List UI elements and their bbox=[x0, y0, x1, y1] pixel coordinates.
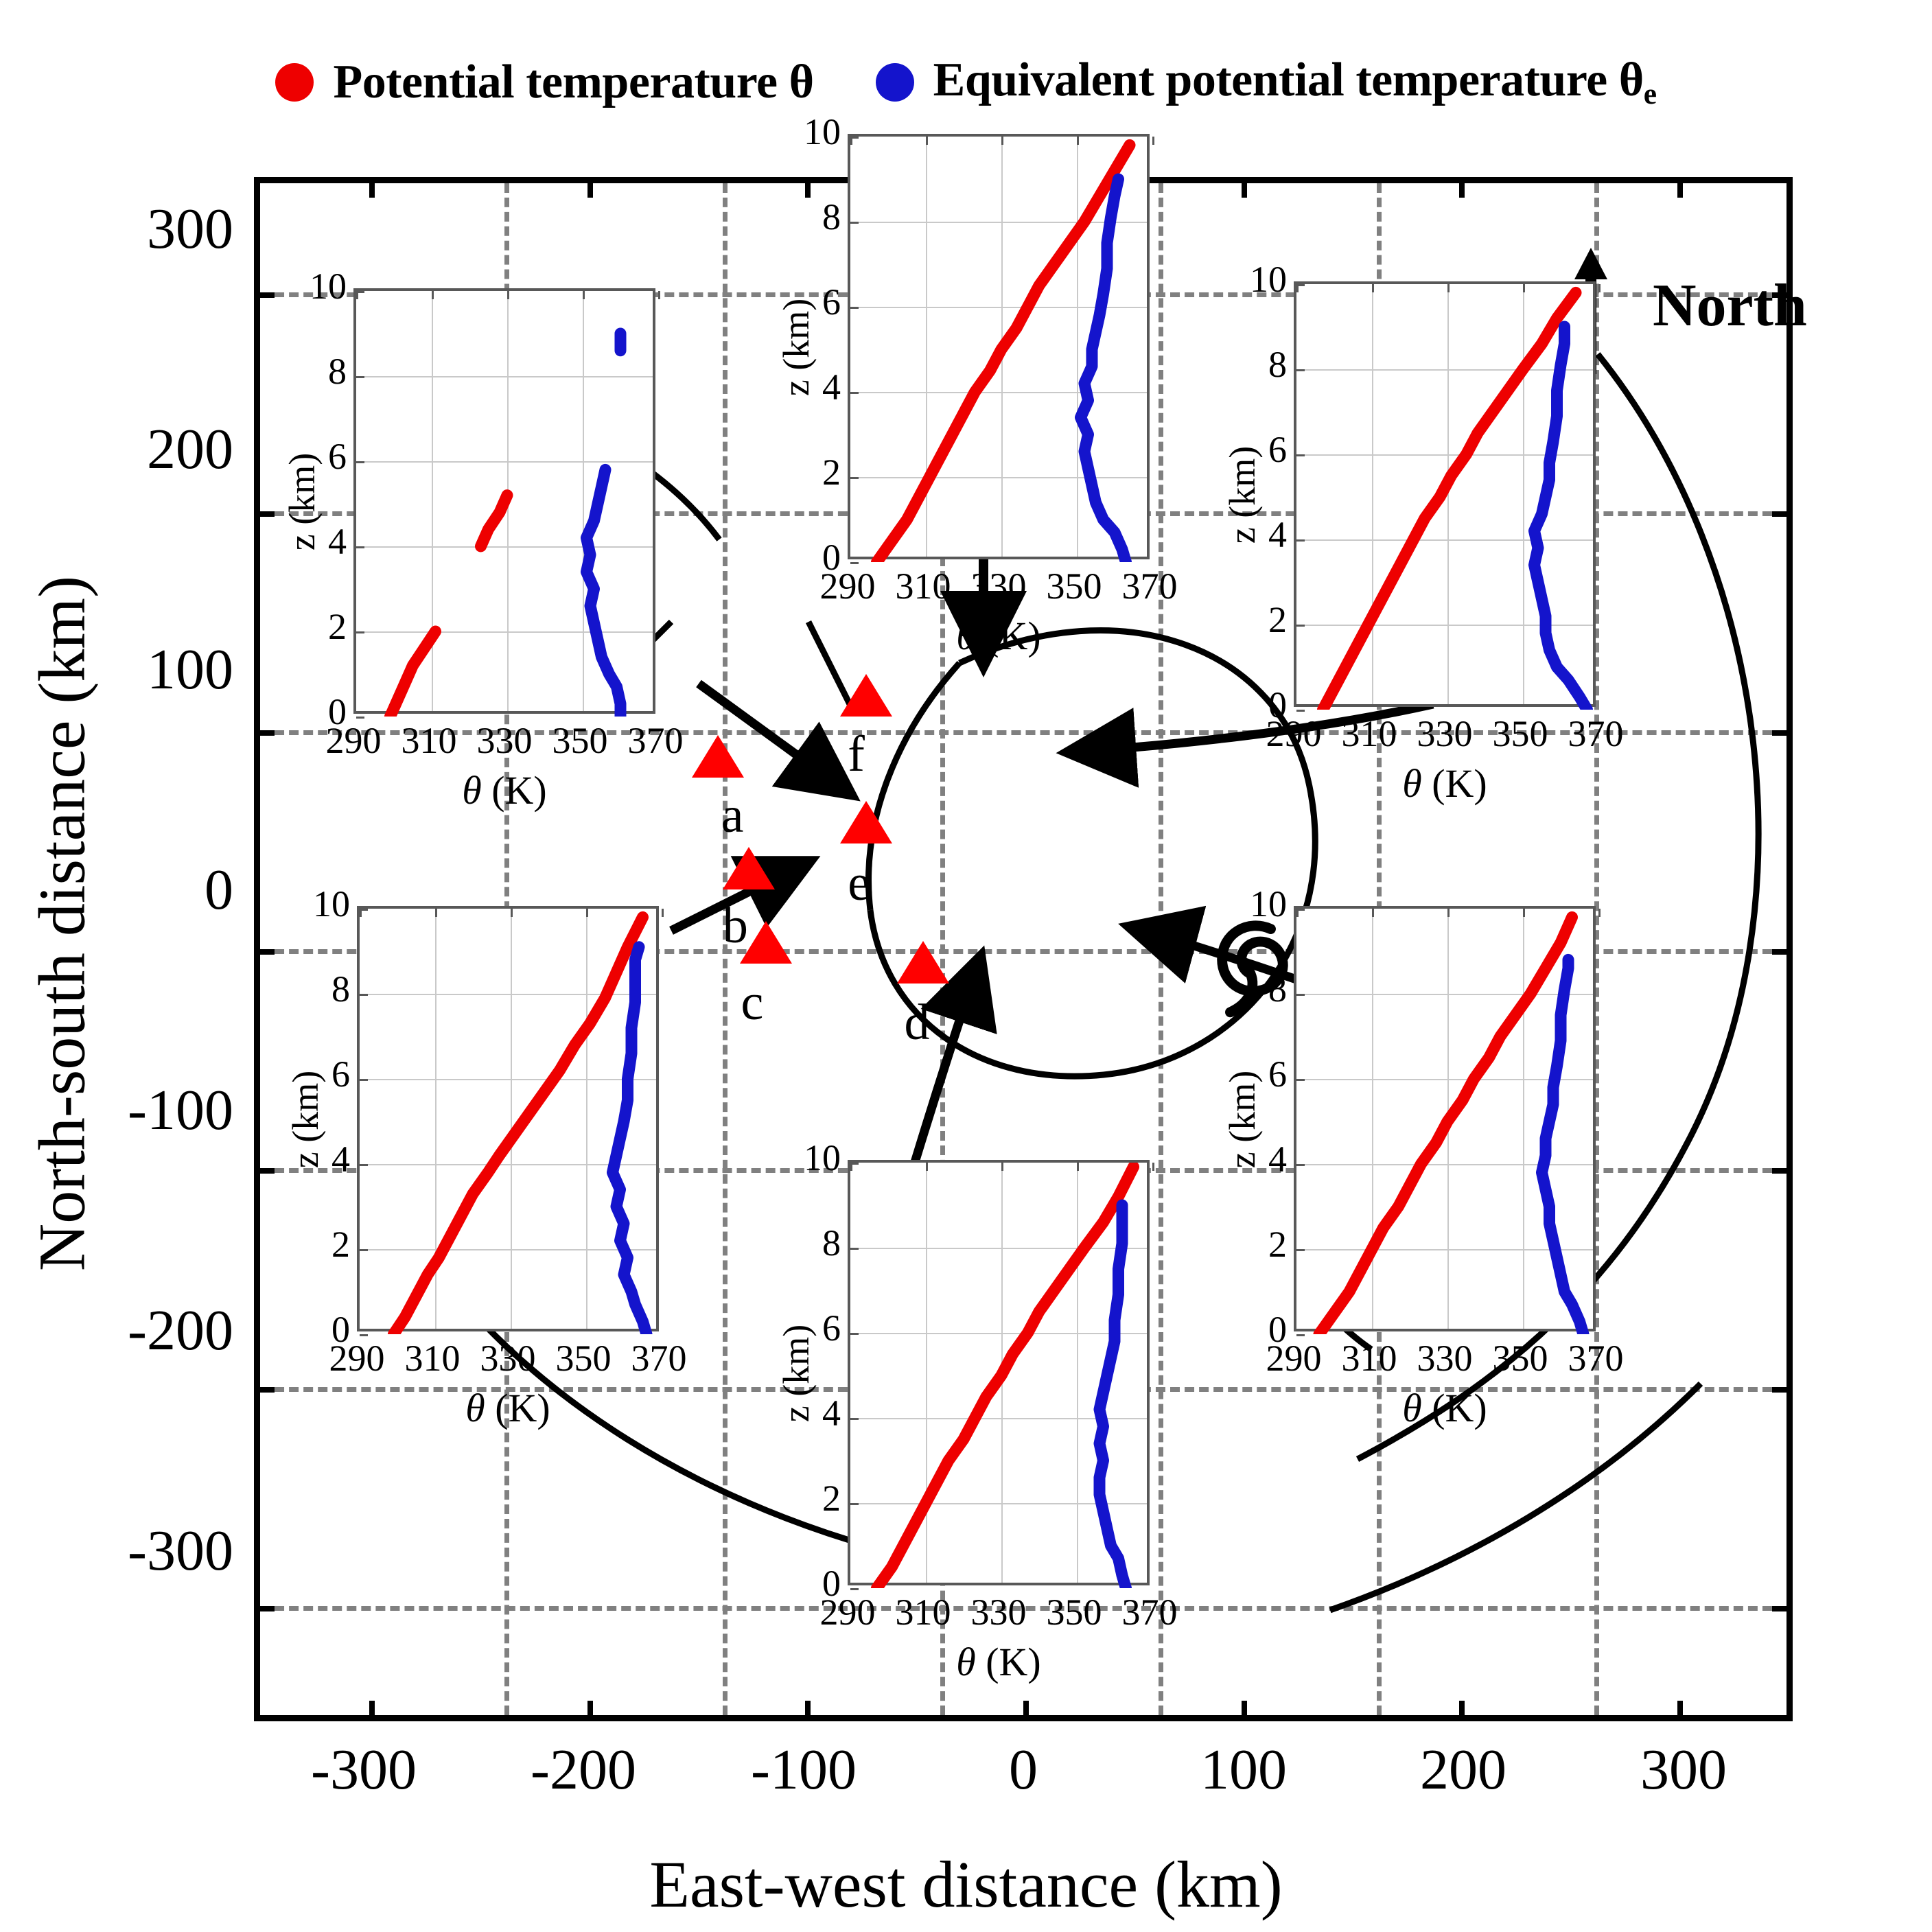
inset-c-xtick-370 bbox=[1152, 1163, 1154, 1171]
xtick-top--300 bbox=[369, 183, 375, 198]
marker-triangle-b[interactable] bbox=[723, 847, 775, 889]
inset-f-xtick-370 bbox=[1152, 137, 1154, 145]
inset-e-y-axis-title: z (km) bbox=[1221, 406, 1264, 584]
legend-label-theta-e: Equivalent potential temperature θe bbox=[933, 53, 1657, 111]
ytick--300 bbox=[259, 1606, 275, 1611]
inset-plot-e: 0246810290310330350370z (km)θ (K) bbox=[1235, 281, 1661, 844]
y-axis-title: North-south distance (km) bbox=[24, 340, 100, 1507]
inset-a-series-theta-e-seg0 bbox=[587, 469, 621, 717]
inset-b-series-theta-e-seg0 bbox=[613, 947, 647, 1334]
legend-item-theta: Potential temperature θ bbox=[275, 55, 813, 110]
inset-c-ytick-label-2: 2 bbox=[793, 1477, 841, 1520]
inset-d-ytick-label-8: 8 bbox=[1239, 968, 1287, 1010]
inset-plot-d: 0246810290310330350370z (km)θ (K) bbox=[1235, 906, 1661, 1469]
inset-c-ytick-0 bbox=[850, 1588, 859, 1590]
inset-c-ytick-label-8: 8 bbox=[793, 1222, 841, 1264]
inset-d-series-theta-e-seg0 bbox=[1542, 959, 1584, 1334]
inset-f-xtick-label-370: 370 bbox=[1102, 565, 1198, 607]
inset-b-ytick-label-2: 2 bbox=[302, 1223, 350, 1266]
xtick-label--100: -100 bbox=[701, 1736, 907, 1803]
xtick-top--200 bbox=[587, 183, 593, 198]
inset-d-x-axis-title: θ (K) bbox=[1294, 1385, 1596, 1431]
ytick--100 bbox=[259, 1168, 275, 1174]
inset-plot-b: 0246810290310330350370z (km)θ (K) bbox=[299, 906, 724, 1469]
inset-e-xtick-label-370: 370 bbox=[1548, 712, 1644, 755]
ytick--200 bbox=[259, 1387, 275, 1393]
inset-f-series-theta-e-seg0 bbox=[1081, 179, 1126, 562]
ytick-100 bbox=[259, 730, 275, 736]
inset-f-plot-box bbox=[848, 134, 1150, 559]
marker-label-f: f bbox=[848, 725, 865, 784]
inset-b-ytick-label-8: 8 bbox=[302, 968, 350, 1010]
inset-f-ytick-0 bbox=[850, 562, 859, 564]
inset-c-xtick-label-370: 370 bbox=[1102, 1591, 1198, 1633]
inset-e-ytick-label-2: 2 bbox=[1239, 598, 1287, 641]
inset-a-xtick-label-370: 370 bbox=[607, 719, 703, 762]
inset-e-ytick-label-8: 8 bbox=[1239, 343, 1287, 386]
inset-d-y-axis-title: z (km) bbox=[1221, 1030, 1264, 1209]
inset-c-plot-box bbox=[848, 1160, 1150, 1585]
xtick--300 bbox=[369, 1701, 375, 1716]
inset-c-ytick-label-10: 10 bbox=[793, 1137, 841, 1179]
inset-b-xtick-label-370: 370 bbox=[611, 1337, 707, 1380]
inset-f-ytick-label-2: 2 bbox=[793, 451, 841, 493]
inset-c-x-axis-title: θ (K) bbox=[848, 1639, 1150, 1685]
inset-e-ytick-label-10: 10 bbox=[1239, 258, 1287, 301]
marker-label-e: e bbox=[848, 854, 870, 913]
inset-f-y-axis-title: z (km) bbox=[775, 258, 817, 437]
inset-a-xtick-370 bbox=[658, 291, 660, 299]
xtick-top-300 bbox=[1677, 183, 1683, 198]
xtick-300 bbox=[1677, 1701, 1683, 1716]
inset-b-ytick-0 bbox=[360, 1334, 368, 1336]
inset-b-xtick-370 bbox=[662, 909, 664, 917]
inset-c-series-theta-e-seg0 bbox=[1099, 1205, 1126, 1588]
inset-e-series-theta-e-seg0 bbox=[1535, 327, 1587, 710]
inset-b-series-theta-seg0 bbox=[394, 917, 643, 1334]
marker-triangle-d[interactable] bbox=[897, 941, 949, 984]
ytick-200 bbox=[259, 511, 275, 517]
ytick-label--300: -300 bbox=[27, 1517, 233, 1584]
inset-a-plot-box bbox=[353, 288, 655, 714]
inset-plot-c: 0246810290310330350370z (km)θ (K) bbox=[789, 1160, 1215, 1723]
inset-d-ytick-0 bbox=[1296, 1334, 1305, 1336]
inset-f-x-axis-title: θ (K) bbox=[848, 613, 1150, 659]
xtick-label-0: 0 bbox=[920, 1736, 1126, 1803]
inset-a-series-theta-seg0 bbox=[391, 631, 436, 717]
inset-e-xtick-370 bbox=[1598, 284, 1601, 292]
xtick-label--300: -300 bbox=[261, 1736, 467, 1803]
ytick-right-200 bbox=[1772, 511, 1787, 517]
inset-d-curves bbox=[1296, 909, 1598, 1334]
inset-c-series-theta-seg0 bbox=[877, 1167, 1134, 1588]
inset-b-ytick-label-10: 10 bbox=[302, 883, 350, 925]
ytick-right--100 bbox=[1772, 1168, 1787, 1174]
inset-c-curves bbox=[850, 1163, 1152, 1588]
xtick-200 bbox=[1459, 1701, 1465, 1716]
inset-b-x-axis-title: θ (K) bbox=[357, 1385, 659, 1431]
inset-d-xtick-label-370: 370 bbox=[1548, 1337, 1644, 1380]
inset-a-ytick-0 bbox=[356, 717, 364, 719]
xtick-label-200: 200 bbox=[1360, 1736, 1566, 1803]
xtick-100 bbox=[1242, 1701, 1247, 1716]
xtick-label-100: 100 bbox=[1141, 1736, 1347, 1803]
ytick-right--300 bbox=[1772, 1606, 1787, 1611]
marker-triangle-e[interactable] bbox=[840, 801, 892, 843]
ytick-0 bbox=[259, 949, 275, 955]
inset-a-ytick-label-10: 10 bbox=[299, 265, 347, 307]
inset-a-ytick-label-8: 8 bbox=[299, 350, 347, 393]
ytick-right-0 bbox=[1772, 949, 1787, 955]
legend-label-theta: Potential temperature θ bbox=[333, 55, 813, 110]
legend: Potential temperature θ Equivalent poten… bbox=[0, 41, 1932, 124]
inset-f-curves bbox=[850, 137, 1152, 562]
xtick-top-100 bbox=[1242, 183, 1247, 198]
inset-c-y-axis-title: z (km) bbox=[775, 1284, 817, 1463]
inset-b-plot-box bbox=[357, 906, 659, 1331]
inset-b-y-axis-title: z (km) bbox=[284, 1030, 327, 1209]
inset-d-plot-box bbox=[1294, 906, 1596, 1331]
ytick-right-100 bbox=[1772, 730, 1787, 736]
inset-d-ytick-label-2: 2 bbox=[1239, 1223, 1287, 1266]
inset-e-plot-box bbox=[1294, 281, 1596, 707]
xtick-label-300: 300 bbox=[1581, 1736, 1786, 1803]
inset-plot-a: 0246810290310330350370z (km)θ (K) bbox=[295, 288, 721, 851]
legend-item-theta-e: Equivalent potential temperature θe bbox=[876, 53, 1657, 111]
xtick-label--200: -200 bbox=[480, 1736, 686, 1803]
inset-e-ytick-0 bbox=[1296, 710, 1305, 712]
inset-d-ytick-label-10: 10 bbox=[1239, 883, 1287, 925]
inset-f-ytick-label-8: 8 bbox=[793, 196, 841, 238]
inset-f-ytick-label-10: 10 bbox=[793, 110, 841, 153]
x-axis-title: East-west distance (km) bbox=[0, 1846, 1932, 1922]
inset-plot-f: 0246810290310330350370z (km)θ (K) bbox=[789, 134, 1215, 697]
inset-a-series-theta-seg4 bbox=[481, 496, 508, 546]
inset-a-curves bbox=[356, 291, 658, 717]
inset-e-series-theta-seg0 bbox=[1323, 292, 1576, 710]
ytick-label-300: 300 bbox=[27, 196, 233, 262]
inset-e-curves bbox=[1296, 284, 1598, 710]
xtick-top-200 bbox=[1459, 183, 1465, 198]
inset-d-series-theta-seg0 bbox=[1319, 917, 1572, 1334]
xtick--200 bbox=[587, 1701, 593, 1716]
inset-d-xtick-370 bbox=[1598, 909, 1601, 917]
ytick-right--200 bbox=[1772, 1387, 1787, 1393]
marker-label-a: a bbox=[721, 787, 744, 845]
inset-b-curves bbox=[360, 909, 662, 1334]
inset-e-x-axis-title: θ (K) bbox=[1294, 760, 1596, 806]
inset-a-y-axis-title: z (km) bbox=[281, 412, 323, 591]
inset-a-ytick-label-2: 2 bbox=[299, 605, 347, 648]
north-label: North bbox=[1653, 271, 1807, 340]
ytick-300 bbox=[259, 292, 275, 298]
marker-label-c: c bbox=[741, 974, 764, 1032]
legend-marker-circle-red bbox=[275, 63, 314, 102]
marker-label-d: d bbox=[905, 994, 930, 1052]
legend-marker-circle-blue bbox=[876, 63, 914, 102]
marker-triangle-c[interactable] bbox=[740, 921, 792, 964]
inset-a-x-axis-title: θ (K) bbox=[353, 767, 655, 813]
